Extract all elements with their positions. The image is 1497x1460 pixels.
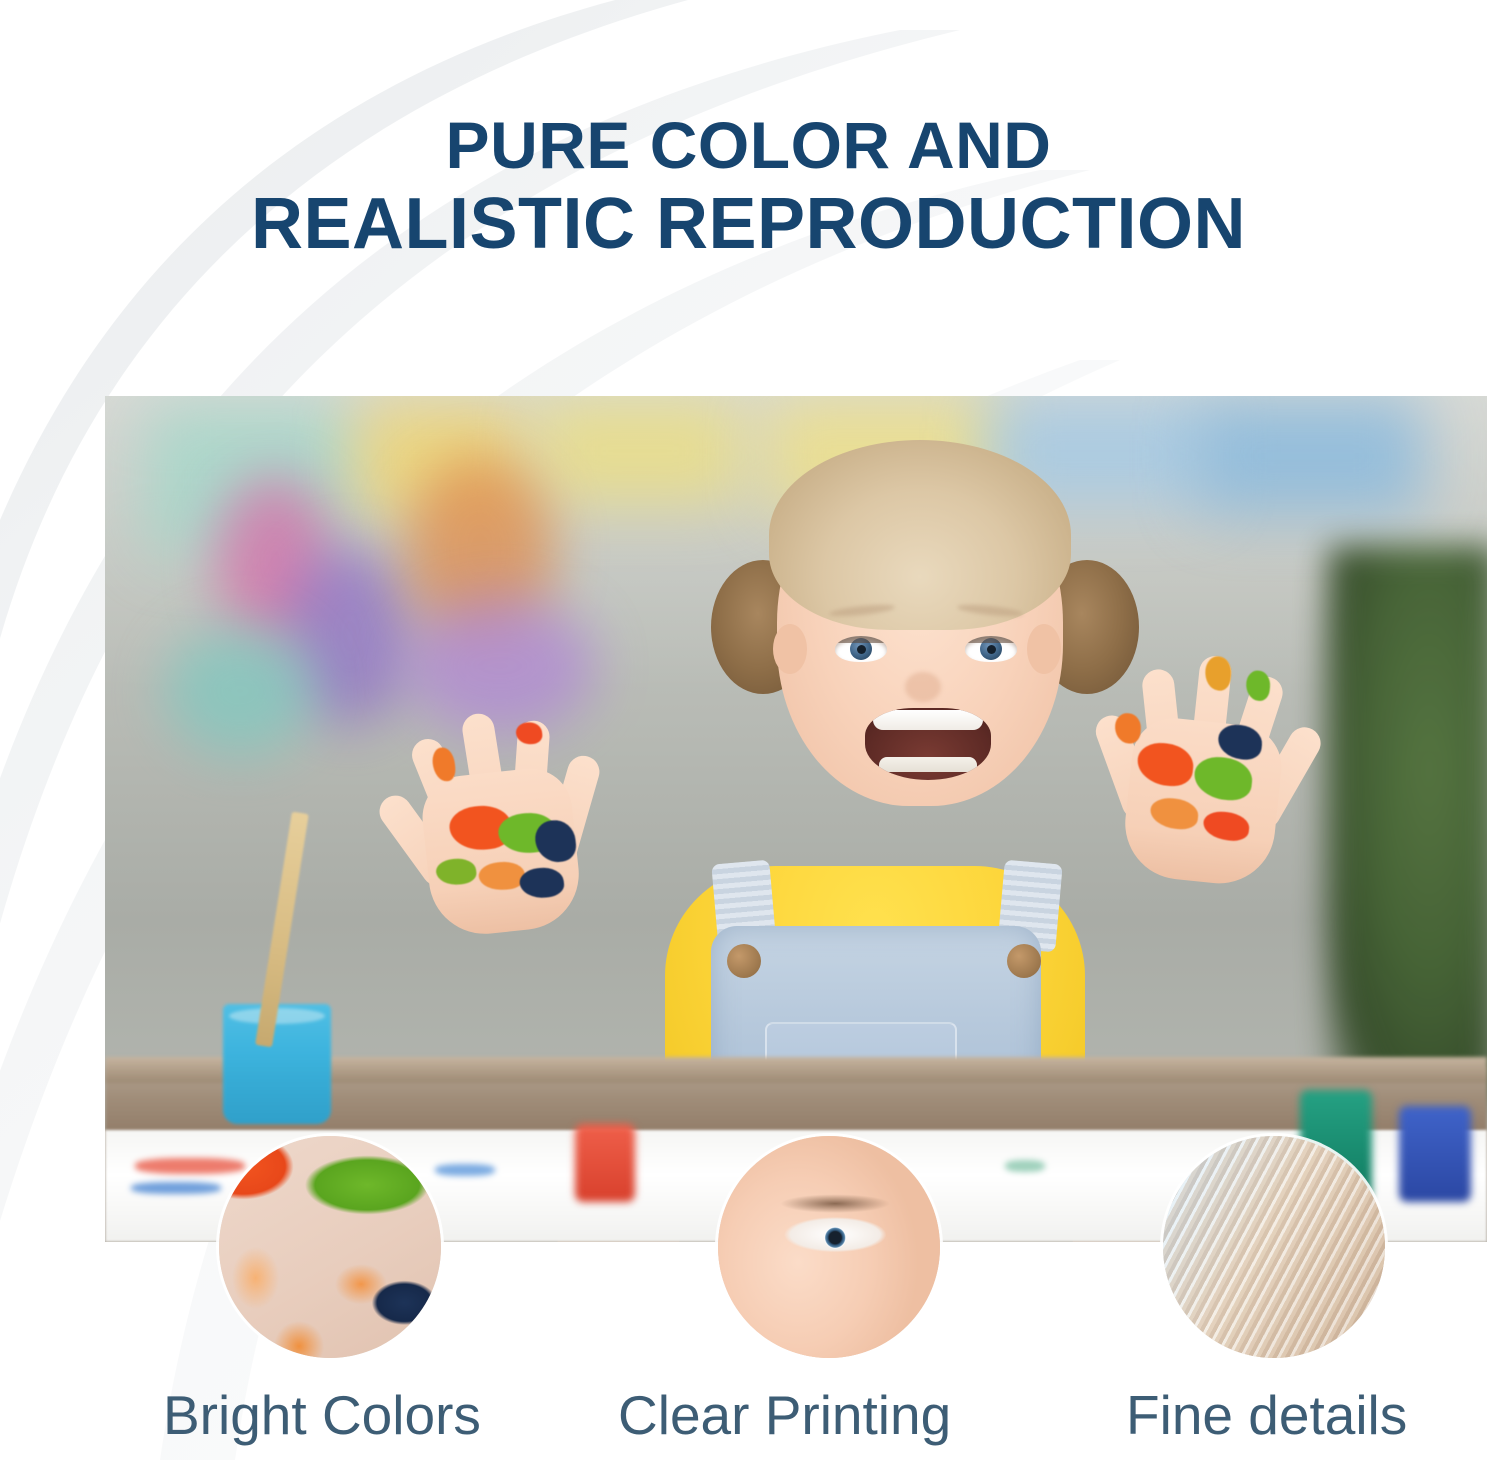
paint-speck xyxy=(131,1182,221,1194)
eyelash-left xyxy=(835,636,887,643)
product-feature-banner: PURE COLOR AND REALISTIC REPRODUCTION xyxy=(0,0,1497,1460)
eye-right xyxy=(965,636,1017,662)
paint-speck xyxy=(435,1164,495,1176)
teeth-upper xyxy=(873,710,983,730)
feature-caption-clear-printing: Clear Printing xyxy=(618,1388,951,1443)
overall-clip-left xyxy=(727,944,761,978)
feature-caption-fine-details: Fine details xyxy=(1126,1388,1407,1443)
overall-clip-right xyxy=(1007,944,1041,978)
paint-macro-image xyxy=(219,1136,441,1358)
paint-bottle-red xyxy=(575,1124,635,1202)
teeth-lower xyxy=(879,757,977,772)
headline-line-1: PURE COLOR AND xyxy=(0,108,1497,183)
mouth xyxy=(865,708,991,780)
hero-photo xyxy=(105,396,1487,1242)
feature-caption-bright-colors: Bright Colors xyxy=(163,1388,481,1443)
feature-circle-clear-printing xyxy=(718,1136,940,1358)
eye-left xyxy=(835,636,887,662)
headline-line-2: REALISTIC REPRODUCTION xyxy=(0,183,1497,265)
eyelash-right xyxy=(965,636,1017,643)
feature-circle-fine-details xyxy=(1163,1136,1385,1358)
paint-speck xyxy=(1005,1160,1045,1172)
eye-macro-image xyxy=(718,1136,940,1358)
page-title: PURE COLOR AND REALISTIC REPRODUCTION xyxy=(0,108,1497,265)
hero-photo-scene xyxy=(105,396,1487,1242)
hair xyxy=(769,440,1071,630)
feature-circle-bright-colors xyxy=(219,1136,441,1358)
hair-macro-image xyxy=(1163,1136,1385,1358)
ear-right xyxy=(1027,624,1061,674)
painted-hand-right xyxy=(1093,616,1328,887)
nose xyxy=(905,672,941,702)
ear-left xyxy=(773,624,807,674)
painted-hand-left xyxy=(381,666,616,937)
blue-water-cup xyxy=(223,1004,331,1124)
paint-bottle-blue xyxy=(1399,1106,1471,1202)
